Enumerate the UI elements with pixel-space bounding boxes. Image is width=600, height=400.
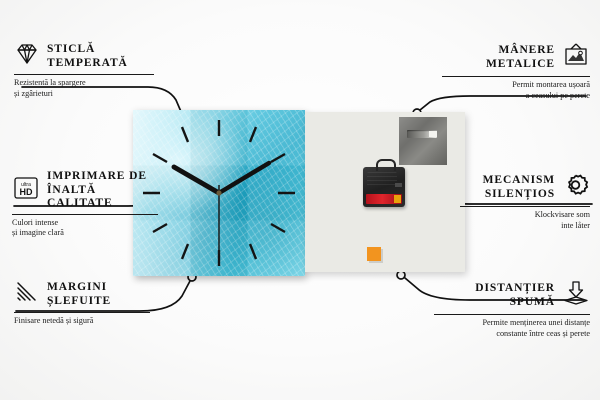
diamond-icon bbox=[14, 42, 40, 71]
product-front-clock bbox=[133, 110, 305, 276]
foam-spacer-arrow-icon bbox=[562, 280, 590, 311]
feature-title: MÂNERE METALICE bbox=[486, 44, 555, 71]
feature-title: MARGINI ȘLEFUITE bbox=[47, 281, 111, 308]
feature-divider bbox=[12, 214, 158, 215]
ultra-hd-icon: ultra HD bbox=[12, 175, 40, 206]
metal-hanger-part bbox=[399, 117, 447, 165]
feature-divider bbox=[434, 314, 590, 315]
infographic-canvas: STICLĂ TEMPERATĂ Rezistentă la spargere … bbox=[0, 0, 600, 400]
wall-hanger-picture-icon bbox=[562, 42, 590, 73]
foam-spacer-part bbox=[367, 247, 381, 261]
mechanism-chip bbox=[395, 183, 402, 187]
feature-divider bbox=[442, 76, 590, 77]
feature-title: MECANISM SILENȚIOS bbox=[483, 174, 555, 201]
product-back-panel bbox=[305, 112, 465, 272]
battery-terminal bbox=[394, 195, 401, 203]
feature-description: Rezistentă la spargere și zgârieturi bbox=[14, 78, 154, 99]
clock-mechanism-part bbox=[363, 167, 405, 207]
feature-divider bbox=[460, 206, 590, 207]
feature-manere-metalice: MÂNERE METALICE Permit montarea ușoară a… bbox=[442, 42, 590, 101]
feature-distantier-spuma: DISTANȚIER SPUMĂ Permite menținerea unei… bbox=[434, 280, 590, 339]
feature-divider bbox=[14, 312, 150, 313]
clock-dial bbox=[133, 110, 305, 276]
feature-imprimare-hd: ultra HD IMPRIMARE DE ÎNALTĂ CALITATE Cu… bbox=[12, 170, 158, 239]
feature-description: Permite menținerea unei distanțe constan… bbox=[434, 318, 590, 339]
feature-description: Permit montarea ușoară a ceasului pe per… bbox=[442, 80, 590, 101]
hanger-hole bbox=[429, 131, 437, 137]
feature-mecanism-silentios: MECANISM SILENȚIOS Klockvisare som inte … bbox=[460, 172, 590, 231]
feature-divider bbox=[14, 74, 154, 75]
gear-icon bbox=[562, 172, 590, 203]
feature-sticla-temperata: STICLĂ TEMPERATĂ Rezistentă la spargere … bbox=[14, 42, 154, 99]
feature-title: DISTANȚIER SPUMĂ bbox=[475, 282, 555, 309]
mechanism-label bbox=[367, 172, 397, 188]
svg-text:HD: HD bbox=[20, 187, 33, 197]
feature-description: Finisare netedă și sigură bbox=[14, 316, 150, 327]
feature-title: IMPRIMARE DE ÎNALTĂ CALITATE bbox=[47, 170, 158, 211]
ring-distantier-spuma bbox=[397, 271, 405, 279]
feature-description: Culori intense și imagine clară bbox=[12, 218, 158, 239]
feature-title: STICLĂ TEMPERATĂ bbox=[47, 43, 128, 70]
battery-part bbox=[366, 194, 402, 204]
feature-margini-slefuite: MARGINI ȘLEFUITE Finisare netedă și sigu… bbox=[14, 280, 150, 327]
feature-description: Klockvisare som inte låter bbox=[460, 210, 590, 231]
mechanism-hook bbox=[376, 159, 396, 171]
beveled-edge-icon bbox=[14, 280, 40, 309]
